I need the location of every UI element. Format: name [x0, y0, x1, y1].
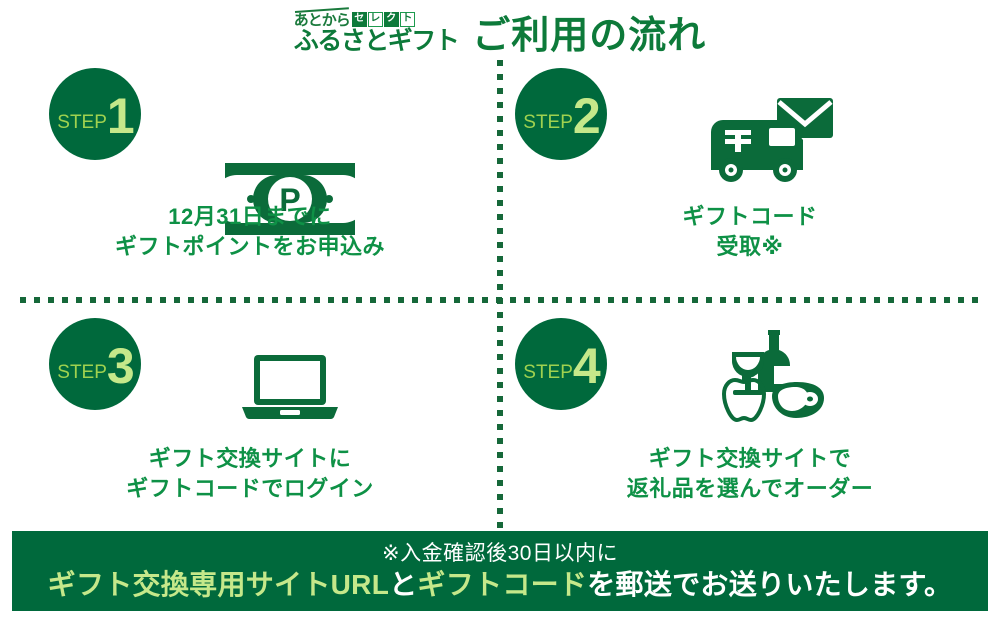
step-caption-3: ギフト交換サイトに ギフトコードでログイン	[0, 444, 500, 505]
postal-truck-mail-icon	[696, 90, 846, 190]
infographic-page: あとから セ レ ク ト ふるさとギフト ご利用の流れ STEP 1	[0, 0, 1000, 621]
notice-banner: ※入金確認後30日以内に ギフト交換専用サイトURLとギフトコードを郵送でお送り…	[12, 531, 988, 611]
step-cell-1: STEP 1 P 12月31日までに ギフトポイントをお申込み	[0, 58, 500, 298]
step-cell-4: STEP 4	[500, 308, 1000, 548]
step-caption-3-line2: ギフトコードでログイン	[0, 474, 500, 504]
notice-tail-text: を郵送でお送りいたします。	[587, 569, 952, 600]
step-badge-number-3: 3	[107, 346, 133, 387]
step-caption-1: 12月31日までに ギフトポイントをお申込み	[0, 202, 500, 263]
notice-conjunction: と	[389, 569, 417, 600]
header: あとから セ レ ク ト ふるさとギフト ご利用の流れ	[0, 0, 1000, 62]
steak-part	[772, 382, 824, 418]
logo-atokara-text: あとから	[294, 11, 350, 28]
step-caption-4-line1: ギフト交換サイトで	[500, 444, 1000, 474]
notice-highlight-giftcode: ギフトコード	[417, 569, 587, 600]
step-badge-1: STEP 1	[49, 68, 141, 160]
step-caption-2-line2: 受取※	[500, 232, 1000, 262]
logo-top-row: あとから セ レ ク ト	[294, 10, 415, 28]
step-badge-label-2: STEP	[523, 113, 573, 132]
step-badge-3: STEP 3	[49, 318, 141, 410]
step-badge-label-4: STEP	[523, 363, 573, 382]
food-gift-icon	[690, 326, 840, 428]
logo-select-char-0: セ	[352, 12, 367, 27]
step-caption-3-line1: ギフト交換サイトに	[0, 444, 500, 474]
step-badge-number-4: 4	[573, 346, 599, 387]
page-title: ご利用の流れ	[472, 4, 706, 59]
notice-banner-line2: ギフト交換専用サイトURLとギフトコードを郵送でお送りいたします。	[48, 568, 953, 602]
step-badge-label-1: STEP	[57, 113, 107, 132]
step-caption-4: ギフト交換サイトで 返礼品を選んでオーダー	[500, 444, 1000, 505]
step-cell-2: STEP 2	[500, 58, 1000, 298]
brand-logo: あとから セ レ ク ト ふるさとギフト	[294, 8, 459, 54]
logo-brand-text: ふるさとギフト	[294, 29, 459, 54]
truck-part	[711, 120, 803, 182]
step-badge-number-2: 2	[573, 96, 599, 137]
step-caption-4-line2: 返礼品を選んでオーダー	[500, 474, 1000, 504]
step-badge-4: STEP 4	[515, 318, 607, 410]
step-caption-2: ギフトコード 受取※	[500, 202, 1000, 263]
step-caption-2-line1: ギフトコード	[500, 202, 1000, 232]
step-badge-2: STEP 2	[515, 68, 607, 160]
step-caption-1-line2: ギフトポイントをお申込み	[0, 232, 500, 262]
step-caption-1-line1: 12月31日までに	[0, 202, 500, 232]
step-badge-label-3: STEP	[57, 363, 107, 382]
laptop-icon	[220, 346, 360, 428]
logo-select-char-2: ク	[384, 12, 399, 27]
notice-highlight-url: ギフト交換専用サイトURL	[48, 569, 389, 600]
logo-select-boxes: セ レ ク ト	[352, 12, 415, 27]
step-badge-number-1: 1	[107, 96, 133, 137]
logo-select-char-1: レ	[368, 12, 383, 27]
step-cell-3: STEP 3 ギフト交換サイトに ギフトコードでログイン	[0, 308, 500, 548]
logo-select-char-3: ト	[400, 12, 415, 27]
notice-banner-line1: ※入金確認後30日以内に	[382, 541, 618, 566]
